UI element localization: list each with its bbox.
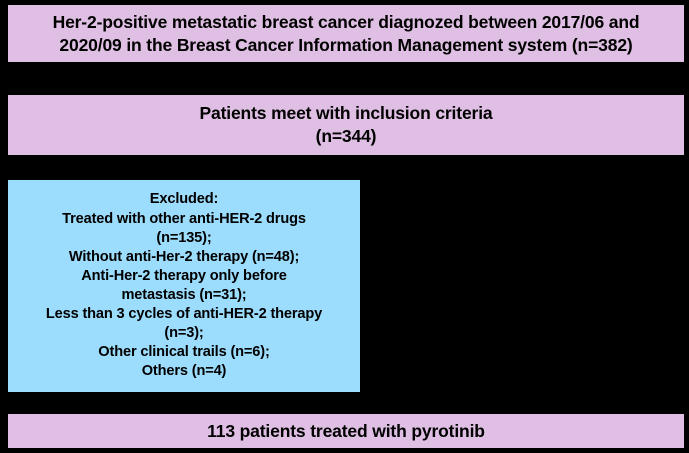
enrollment-box: Her-2-positive metastatic breast cancer …: [8, 5, 684, 62]
enrollment-line-2: 2020/09 in the Breast Cancer Information…: [59, 34, 632, 57]
excluded-line-4: Anti-Her-2 therapy only before: [81, 267, 287, 286]
final-cohort-box: 113 patients treated with pyrotinib: [8, 414, 684, 448]
excluded-line-7: (n=3);: [164, 324, 203, 343]
excluded-heading: Excluded:: [150, 190, 218, 209]
final-line-1: 113 patients treated with pyrotinib: [207, 420, 485, 443]
excluded-line-2: (n=135);: [156, 229, 211, 248]
excluded-line-6: Less than 3 cycles of anti-HER-2 therapy: [46, 305, 322, 324]
excluded-line-1: Treated with other anti-HER-2 drugs: [62, 210, 306, 229]
enrollment-line-1: Her-2-positive metastatic breast cancer …: [53, 11, 640, 34]
excluded-line-9: Others (n=4): [142, 362, 227, 381]
flow-diagram-canvas: Her-2-positive metastatic breast cancer …: [0, 0, 689, 453]
inclusion-line-2: (n=344): [316, 125, 377, 148]
excluded-line-5: metastasis (n=31);: [121, 286, 246, 305]
excluded-line-3: Without anti-Her-2 therapy (n=48);: [69, 248, 299, 267]
excluded-box: Excluded: Treated with other anti-HER-2 …: [8, 180, 360, 392]
inclusion-criteria-box: Patients meet with inclusion criteria (n…: [8, 95, 684, 155]
excluded-line-8: Other clinical trails (n=6);: [98, 343, 269, 362]
inclusion-line-1: Patients meet with inclusion criteria: [199, 102, 492, 125]
